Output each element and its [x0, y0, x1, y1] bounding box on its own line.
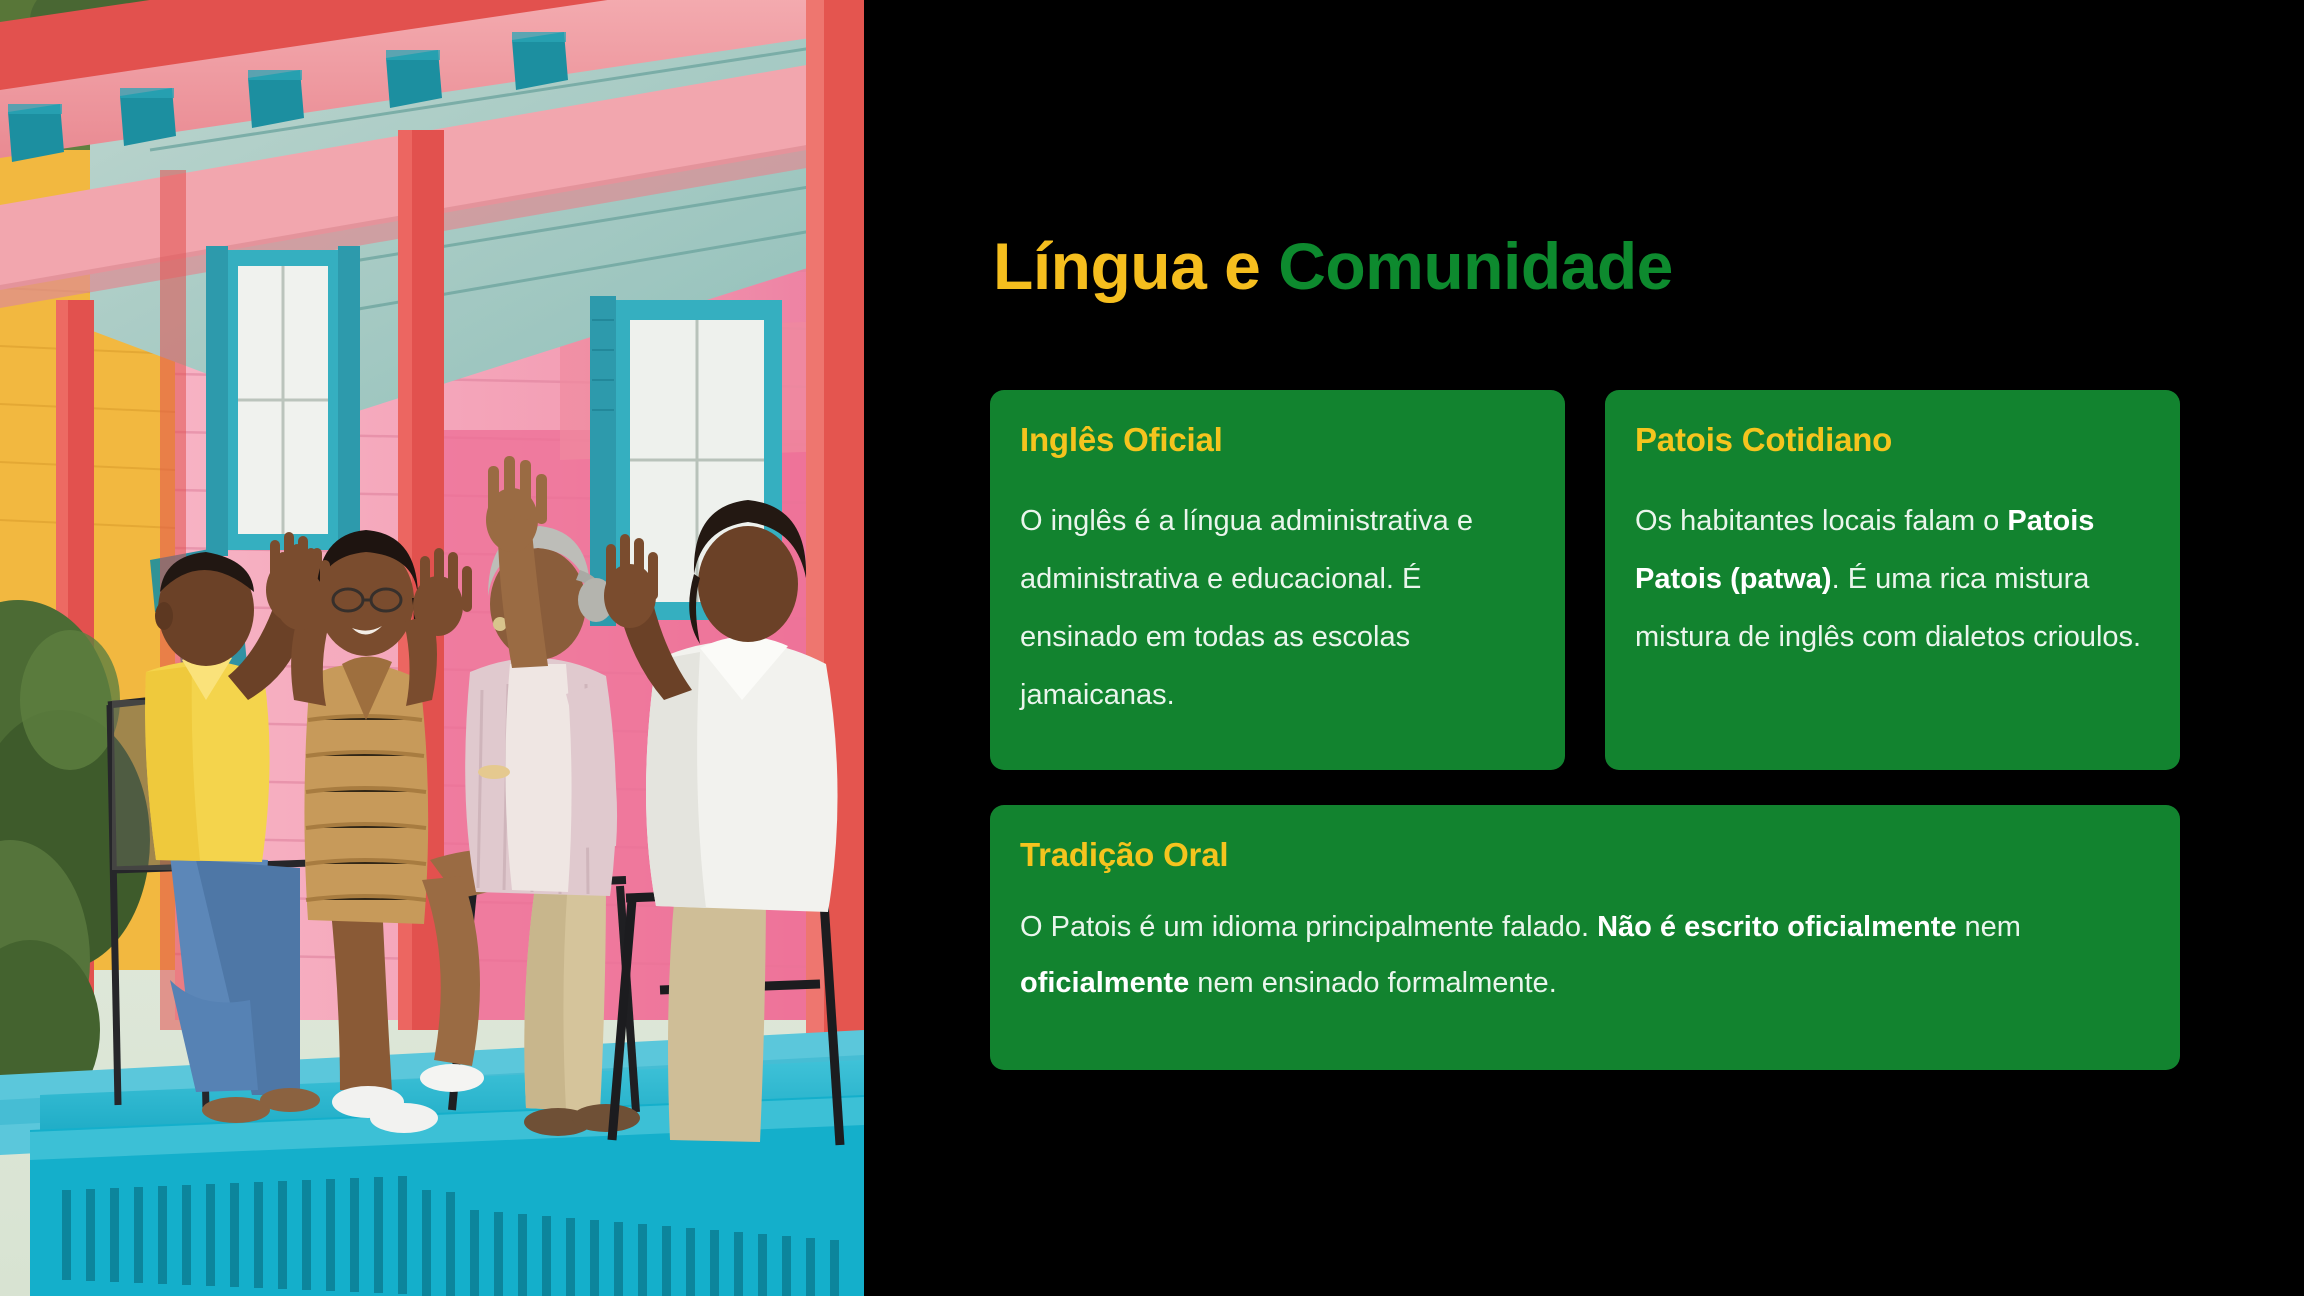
- card-body: Os habitantes locais falam o Patois Pato…: [1635, 492, 2150, 666]
- page-title-highlight: Língua e: [993, 229, 1278, 303]
- card-body: O inglês é a língua administrativa e adm…: [1020, 492, 1535, 724]
- card-body-run-bold: Não é escrito oficialmente: [1597, 911, 1956, 943]
- card-patois-cotidiano[interactable]: Patois Cotidiano Os habitantes locais fa…: [1605, 390, 2180, 770]
- card-title: Patois Cotidiano: [1635, 422, 2150, 458]
- card-body-run-bold: oficialmente: [1020, 967, 1189, 999]
- card-row-2: Tradição Oral O Patois é um idioma princ…: [990, 805, 2180, 1070]
- card-row-1: Inglês Oficial O inglês é a língua admin…: [990, 390, 2180, 770]
- card-body-run: Os habitantes locais falam o: [1635, 505, 2007, 537]
- card-body-run: O inglês é a língua administrativa e adm…: [1020, 505, 1473, 711]
- porch-photo: [0, 0, 864, 1296]
- cards-area: Inglês Oficial O inglês é a língua admin…: [990, 390, 2180, 1070]
- card-body: O Patois é um idioma principalmente fala…: [1020, 899, 2150, 1011]
- page-title: Língua e Comunidade: [993, 232, 1673, 301]
- card-title: Tradição Oral: [1020, 837, 2150, 873]
- page-title-accent: Comunidade: [1278, 229, 1673, 303]
- card-body-run: nem ensinado formalmente.: [1189, 967, 1557, 999]
- porch-photo-illustration: [0, 0, 864, 1296]
- card-body-run: nem: [1956, 911, 2020, 943]
- content-panel: Língua e Comunidade Inglês Oficial O ing…: [864, 0, 2304, 1296]
- card-body-run: O Patois é um idioma principalmente fala…: [1020, 911, 1597, 943]
- card-tradicao-oral[interactable]: Tradição Oral O Patois é um idioma princ…: [990, 805, 2180, 1070]
- card-title: Inglês Oficial: [1020, 422, 1535, 458]
- slide-root: Língua e Comunidade Inglês Oficial O ing…: [0, 0, 2304, 1296]
- card-ingles-oficial[interactable]: Inglês Oficial O inglês é a língua admin…: [990, 390, 1565, 770]
